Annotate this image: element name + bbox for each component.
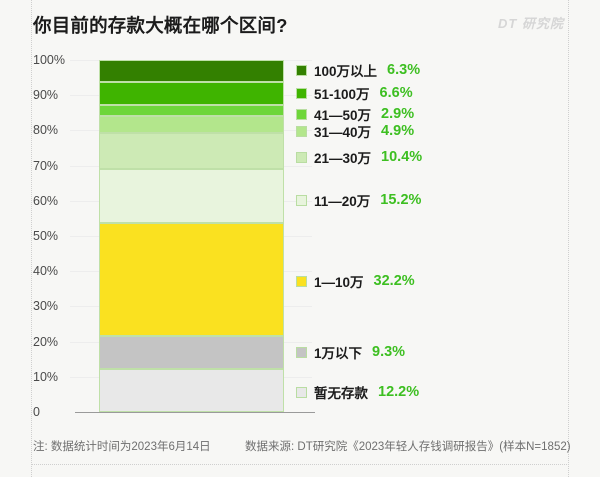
- legend-value: 10.4%: [381, 149, 422, 165]
- legend-swatch-icon: [296, 88, 307, 99]
- legend-swatch-icon: [296, 126, 307, 137]
- x-axis-baseline: [75, 412, 315, 413]
- watermark-logo: DT 研究院: [498, 13, 564, 32]
- legend-item[interactable]: 31—40万4.9%: [296, 121, 414, 141]
- bar-segment[interactable]: [99, 105, 284, 115]
- legend-item[interactable]: 暂无存款12.2%: [296, 382, 419, 402]
- chart-page: 你目前的存款大概在哪个区间? DT 研究院 010%20%30%40%50%60…: [0, 0, 600, 477]
- legend-label: 100万以上: [314, 60, 377, 80]
- legend-item[interactable]: 51-100万6.6%: [296, 83, 413, 103]
- bar-segment[interactable]: [99, 82, 284, 105]
- legend-value: 4.9%: [381, 123, 414, 139]
- legend-item[interactable]: 41—50万2.9%: [296, 104, 414, 124]
- bar-segment[interactable]: [99, 223, 284, 336]
- bar-segment[interactable]: [99, 133, 284, 170]
- legend-value: 6.6%: [380, 85, 413, 101]
- legend-label: 1万以下: [314, 342, 362, 362]
- footer-source: 数据来源: DT研究院《2023年轻人存钱调研报告》(样本N=1852): [245, 438, 571, 454]
- y-axis-tick-label: 30%: [33, 299, 91, 313]
- legend-label: 51-100万: [314, 83, 370, 103]
- legend-label: 11—20万: [314, 190, 370, 210]
- bar-segment[interactable]: [99, 116, 284, 133]
- legend-value: 12.2%: [378, 384, 419, 400]
- legend-item[interactable]: 100万以上6.3%: [296, 60, 420, 80]
- footer-note: 注: 数据统计时间为2023年6月14日: [33, 438, 211, 454]
- legend-label: 41—50万: [314, 104, 371, 124]
- stacked-bar: [99, 60, 284, 412]
- legend-swatch-icon: [296, 347, 307, 358]
- legend-label: 31—40万: [314, 121, 371, 141]
- legend-value: 15.2%: [380, 192, 421, 208]
- legend-swatch-icon: [296, 152, 307, 163]
- legend-swatch-icon: [296, 195, 307, 206]
- legend-swatch-icon: [296, 276, 307, 287]
- legend-label: 21—30万: [314, 147, 371, 167]
- legend-swatch-icon: [296, 65, 307, 76]
- legend-item[interactable]: 11—20万15.2%: [296, 190, 421, 210]
- legend-value: 9.3%: [372, 344, 405, 360]
- y-axis-tick-label: 10%: [33, 370, 91, 384]
- guide-line-left: [31, 0, 32, 477]
- y-axis-tick-label: 100%: [33, 53, 91, 67]
- y-axis-tick-label: 20%: [33, 335, 91, 349]
- legend-item[interactable]: 21—30万10.4%: [296, 147, 422, 167]
- legend-label: 1—10万: [314, 271, 364, 291]
- bar-segment[interactable]: [99, 336, 284, 369]
- legend-item[interactable]: 1万以下9.3%: [296, 342, 405, 362]
- legend-item[interactable]: 1—10万32.2%: [296, 271, 415, 291]
- legend-value: 2.9%: [381, 106, 414, 122]
- y-axis-tick-label: 50%: [33, 229, 91, 243]
- guide-line-bottom: [31, 464, 569, 465]
- y-axis-tick-label: 90%: [33, 88, 91, 102]
- legend-swatch-icon: [296, 109, 307, 120]
- legend-value: 32.2%: [374, 273, 415, 289]
- guide-line-right: [568, 0, 569, 477]
- page-title: 你目前的存款大概在哪个区间?: [33, 12, 288, 38]
- legend-swatch-icon: [296, 387, 307, 398]
- y-axis-tick-label: 70%: [33, 159, 91, 173]
- y-axis-tick-label: 40%: [33, 264, 91, 278]
- bar-segment[interactable]: [99, 60, 284, 82]
- bar-segment[interactable]: [99, 369, 284, 412]
- y-axis-tick-label: 80%: [33, 123, 91, 137]
- bar-segment[interactable]: [99, 169, 284, 223]
- y-axis-tick-label: 60%: [33, 194, 91, 208]
- legend-label: 暂无存款: [314, 382, 368, 402]
- legend-value: 6.3%: [387, 62, 420, 78]
